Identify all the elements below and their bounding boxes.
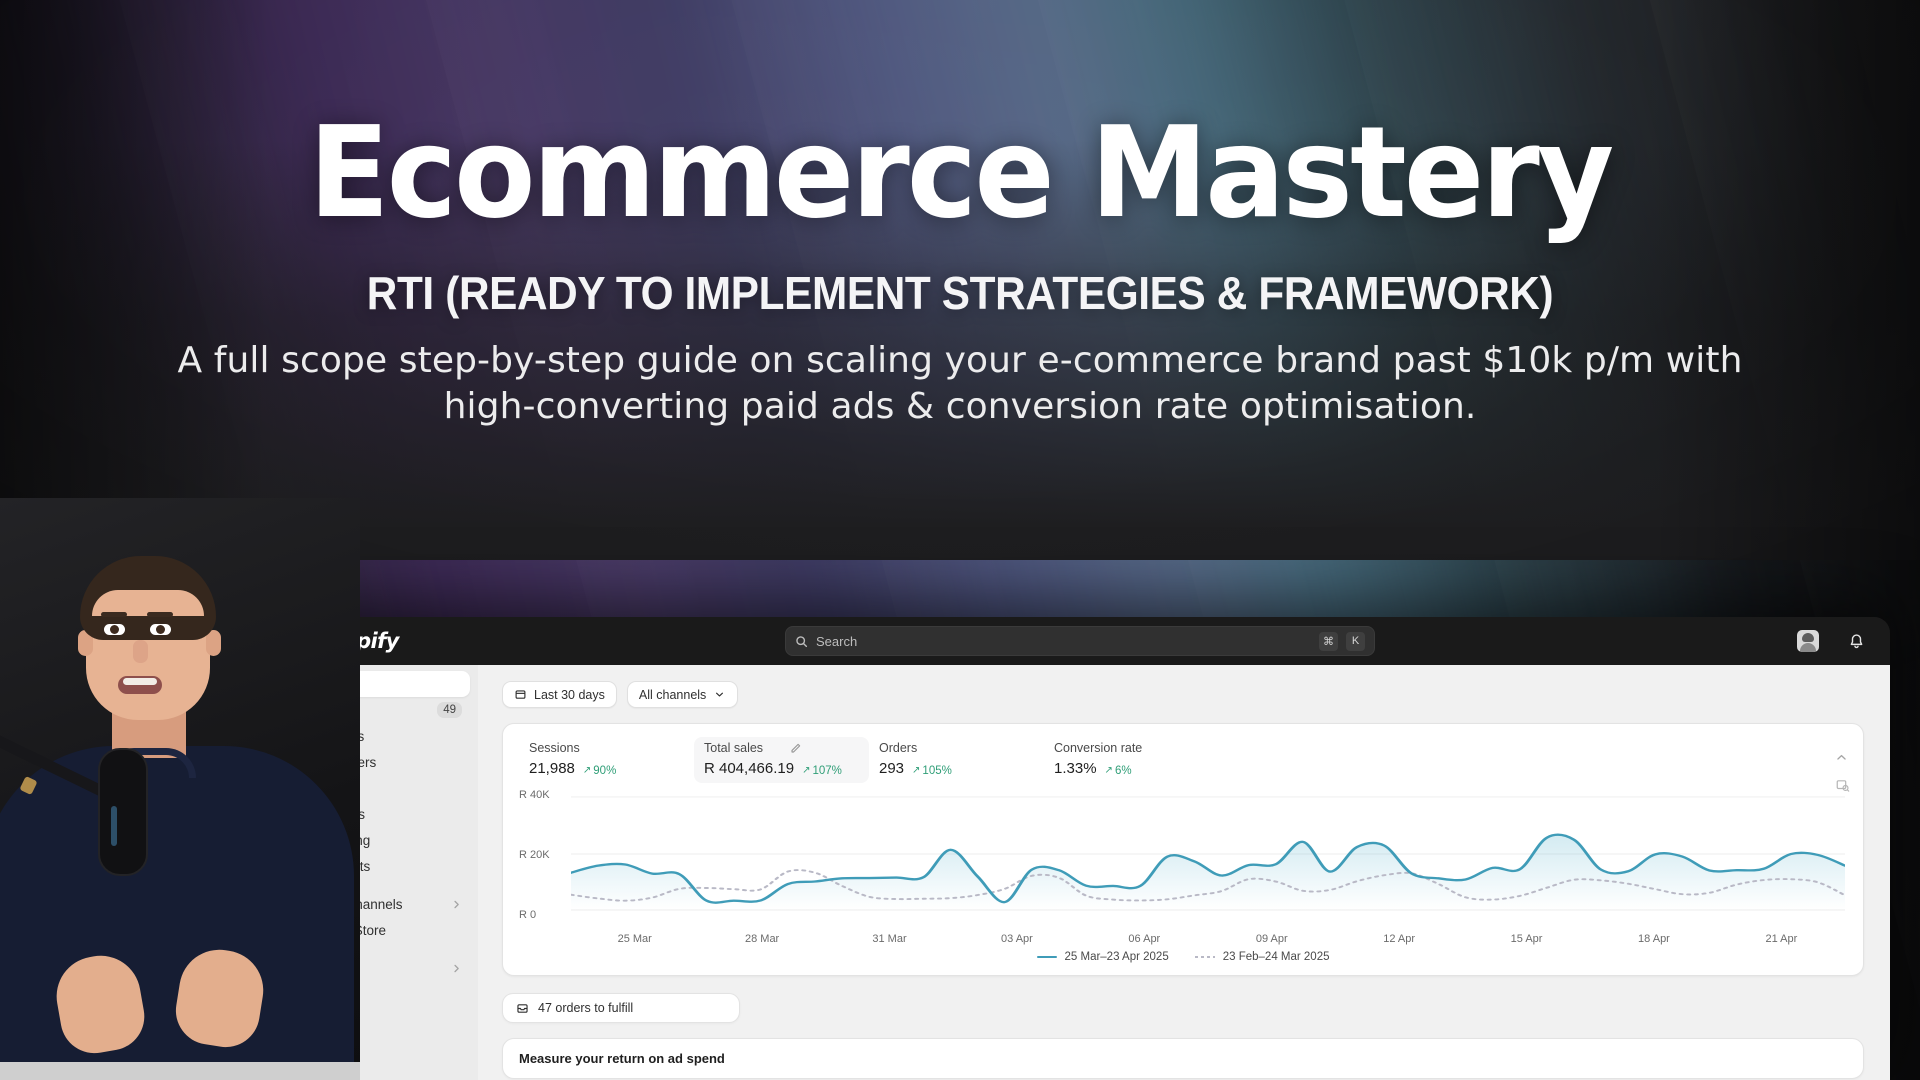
metric-delta: ↗ 107%: [802, 765, 842, 777]
date-range-label: Last 30 days: [534, 688, 605, 702]
window-body: Home Orders 49 Products Customers: [270, 665, 1890, 1080]
metric-value: R 404,466.19: [704, 760, 794, 777]
metric-delta-value: 90%: [593, 765, 616, 777]
sales-chart: R 40K R 20K R 0: [519, 793, 1847, 929]
microphone-icon: [98, 748, 148, 876]
metric-orders[interactable]: Orders 293 ↗ 105%: [869, 737, 1044, 783]
presenter-desk: [0, 1062, 360, 1080]
x-tick-label: 31 Mar: [826, 933, 953, 945]
search-icon: [795, 635, 808, 648]
x-tick-label: 03 Apr: [953, 933, 1080, 945]
presenter-eyebrow-right: [147, 612, 173, 617]
x-tick-label: 21 Apr: [1718, 933, 1845, 945]
chart-x-axis: 25 Mar 28 Mar 31 Mar 03 Apr 06 Apr 09 Ap…: [571, 933, 1845, 945]
metric-sessions[interactable]: Sessions 21,988 ↗ 90%: [519, 737, 694, 783]
metric-value: 293: [879, 760, 904, 777]
filter-row: Last 30 days All channels: [502, 681, 1864, 708]
presenter-eye-right: [150, 624, 171, 635]
search-bar[interactable]: ⌘ K: [785, 626, 1375, 656]
presenter-edge-fade: [314, 498, 360, 1080]
shopify-admin-window: shopify ⌘ K Home: [270, 617, 1890, 1080]
metric-value: 1.33%: [1054, 760, 1097, 777]
arrow-up-icon: ↗: [1105, 765, 1113, 776]
metric-label: Total sales: [704, 741, 763, 755]
compare-chart-icon[interactable]: [1835, 778, 1850, 793]
channel-filter-label: All channels: [639, 688, 706, 702]
metrics-row: Sessions 21,988 ↗ 90% Total sales: [519, 737, 1847, 783]
chevron-up-icon[interactable]: [1834, 750, 1849, 765]
arrow-up-icon: ↗: [802, 765, 810, 776]
edit-pencil-icon[interactable]: [789, 742, 802, 755]
arrow-up-icon: ↗: [912, 765, 920, 776]
metric-conversion-rate[interactable]: Conversion rate 1.33% ↗ 6%: [1044, 737, 1219, 783]
x-tick-label: 15 Apr: [1463, 933, 1590, 945]
date-range-filter[interactable]: Last 30 days: [502, 681, 617, 708]
roas-title: Measure your return on ad spend: [519, 1051, 725, 1066]
metric-delta: ↗ 6%: [1105, 765, 1132, 777]
roas-card[interactable]: Measure your return on ad spend: [502, 1038, 1864, 1079]
metric-delta: ↗ 105%: [912, 765, 952, 777]
y-tick-label: R 20K: [519, 849, 550, 861]
chart-legend: 25 Mar–23 Apr 2025 23 Feb–24 Mar 2025: [519, 951, 1847, 965]
avatar[interactable]: [1797, 630, 1819, 652]
bell-icon[interactable]: [1847, 632, 1866, 651]
orders-to-fulfill-label: 47 orders to fulfill: [538, 1001, 633, 1015]
page-title: Ecommerce Mastery: [58, 110, 1863, 236]
x-tick-label: 09 Apr: [1208, 933, 1335, 945]
legend-swatch-solid: [1037, 956, 1057, 958]
metric-total-sales[interactable]: Total sales R 404,466.19 ↗ 107%: [694, 737, 869, 783]
legend-swatch-dotted: [1195, 956, 1215, 958]
y-tick-label: R 40K: [519, 789, 550, 801]
x-tick-label: 06 Apr: [1081, 933, 1208, 945]
hero-section: Ecommerce Mastery RTI (READY TO IMPLEMEN…: [0, 0, 1920, 430]
legend-label: 23 Feb–24 Mar 2025: [1223, 951, 1330, 963]
presenter-eyebrow-left: [101, 612, 127, 617]
metric-value: 21,988: [529, 760, 575, 777]
chart-svg: [571, 795, 1845, 911]
search-input[interactable]: [816, 634, 1311, 649]
metric-label: Conversion rate: [1054, 741, 1142, 755]
presenter-torso: [0, 746, 354, 1080]
y-tick-label: R 0: [519, 909, 536, 921]
orders-badge: 49: [437, 702, 462, 718]
presenter-eye-left: [104, 624, 125, 635]
chevron-down-icon: [713, 688, 726, 701]
orders-icon: [516, 1002, 529, 1015]
chevron-right-icon: [451, 963, 462, 974]
topbar-actions: [1797, 630, 1866, 652]
x-tick-label: 18 Apr: [1590, 933, 1717, 945]
analytics-overview-card: Sessions 21,988 ↗ 90% Total sales: [502, 723, 1864, 976]
chart-plot-area[interactable]: [571, 795, 1845, 911]
channel-filter[interactable]: All channels: [627, 681, 738, 708]
legend-item-current[interactable]: 25 Mar–23 Apr 2025: [1037, 951, 1169, 963]
x-tick-label: 12 Apr: [1335, 933, 1462, 945]
metric-delta-value: 6%: [1115, 765, 1132, 777]
metric-delta-value: 105%: [922, 765, 951, 777]
metric-delta-value: 107%: [812, 765, 841, 777]
topbar: shopify ⌘ K: [270, 617, 1890, 665]
metric-label: Sessions: [529, 741, 580, 755]
calendar-icon: [514, 688, 527, 701]
metric-label: Orders: [879, 741, 917, 755]
metric-delta: ↗ 90%: [583, 765, 616, 777]
x-tick-label: 28 Mar: [698, 933, 825, 945]
legend-item-compare[interactable]: 23 Feb–24 Mar 2025: [1195, 951, 1330, 963]
presenter-mouth: [118, 676, 162, 694]
orders-to-fulfill-card[interactable]: 47 orders to fulfill: [502, 993, 740, 1023]
main-content: Last 30 days All channels Sessions 21,98…: [478, 665, 1890, 1080]
shortcut-cmd-key: ⌘: [1319, 632, 1338, 651]
legend-label: 25 Mar–23 Apr 2025: [1065, 951, 1169, 963]
x-tick-label: 25 Mar: [571, 933, 698, 945]
presenter-video-overlay: [0, 498, 360, 1080]
shortcut-k-key: K: [1346, 632, 1365, 651]
hero-description: A full scope step-by-step guide on scali…: [165, 338, 1755, 430]
chevron-right-icon: [451, 899, 462, 910]
hero-subtitle: RTI (READY TO IMPLEMENT STRATEGIES & FRA…: [77, 266, 1843, 320]
presenter-nose: [133, 640, 148, 663]
arrow-up-icon: ↗: [583, 765, 591, 776]
